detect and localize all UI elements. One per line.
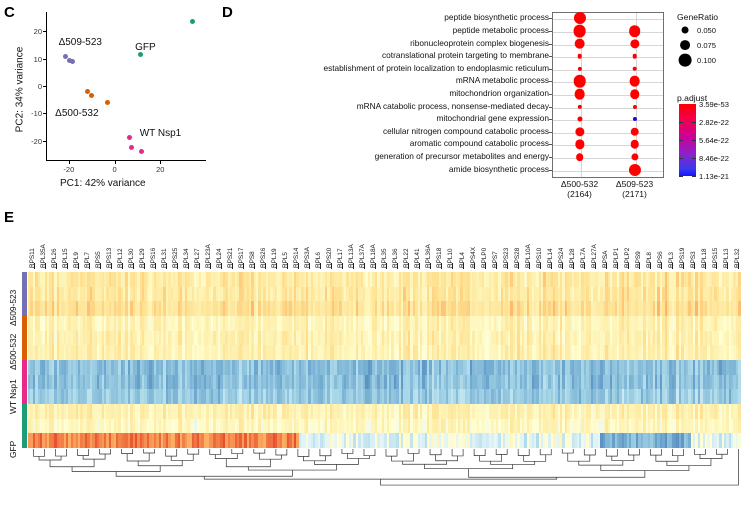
- dendrogram-link: [656, 455, 678, 461]
- dotplot-row-gridline: [553, 70, 663, 71]
- dendrogram-link: [386, 449, 397, 456]
- heatmap-gene-label: RPL32: [734, 248, 741, 268]
- heatmap-gene-label: RPL27: [194, 248, 201, 268]
- heatmap-gene-label: RPL18: [701, 248, 708, 268]
- heatmap-cell: [738, 287, 740, 302]
- heatmap-gene-label: RPL27A: [591, 244, 598, 268]
- heatmap-gene-label: RPL41: [414, 248, 421, 268]
- go-term-label: aromatic compound catabolic process: [410, 139, 549, 147]
- heatmap-gene-tick: [111, 263, 112, 269]
- pca-y-tick-label: -10: [22, 109, 42, 118]
- dendrogram-link: [562, 449, 573, 453]
- heatmap-gene-tick: [309, 263, 310, 269]
- heatmap-cell: [738, 419, 740, 434]
- dendrogram-link: [226, 459, 270, 467]
- heatmap-cell: [738, 316, 740, 331]
- heatmap-gene-tick: [177, 263, 178, 269]
- heatmap-gene-tick: [650, 263, 651, 269]
- dotplot-dot: [629, 76, 640, 87]
- heatmap-gene-label: RPL23A: [205, 244, 212, 268]
- heatmap-gene-label: RPLP1: [613, 248, 620, 268]
- pca-y-tick: [43, 31, 46, 32]
- heatmap-gene-label: RPL17: [337, 248, 344, 268]
- heatmap-gene-label: RPS9: [635, 251, 642, 268]
- pca-y-tick: [43, 113, 46, 114]
- go-term-label: cotranslational protein targeting to mem…: [382, 51, 549, 59]
- legend-padjust-tick: [679, 140, 683, 141]
- heatmap-gene-tick: [320, 263, 321, 269]
- heatmap-cell: [738, 360, 740, 375]
- heatmap-gene-label: RPL4: [459, 252, 466, 268]
- dendrogram-link: [116, 470, 292, 476]
- pca-y-tick: [43, 59, 46, 60]
- dendrogram-svg: [28, 449, 744, 493]
- pca-group-label: Δ500-532: [55, 108, 98, 119]
- heatmap-gene-tick: [496, 263, 497, 269]
- heatmap-gene-label: RPLP2: [624, 248, 631, 268]
- heatmap-gene-tick: [540, 263, 541, 269]
- heatmap-gene-label: RPS7: [492, 251, 499, 268]
- pca-y-axis: [46, 12, 47, 161]
- pca-group-label: WT Nsp1: [140, 128, 182, 139]
- legend-padjust-value: 3.59e-53: [699, 100, 729, 109]
- heatmap-gene-tick: [430, 263, 431, 269]
- dotplot-dot: [574, 38, 585, 49]
- dotplot-grid: [552, 12, 664, 178]
- heatmap-gene-label: RPL30: [128, 248, 135, 268]
- pca-y-tick-label: 20: [22, 27, 42, 36]
- dotplot-row-gridline: [553, 32, 663, 33]
- heatmap-gene-label: RPS14: [293, 248, 300, 268]
- legend-padjust-tick: [679, 158, 683, 159]
- panel-d-dotplot: D peptide biosynthetic processpeptide me…: [222, 0, 744, 205]
- dendrogram-link: [452, 449, 463, 456]
- heatmap-gene-label: RPSA: [602, 251, 609, 268]
- heatmap-gene-tick: [716, 263, 717, 269]
- go-term-label: peptide metabolic process: [453, 26, 549, 34]
- heatmap-gene-tick: [738, 263, 739, 269]
- heatmap-gene-tick: [452, 263, 453, 269]
- heatmap-gene-label: RPL10A: [525, 244, 532, 268]
- dendrogram-link: [601, 465, 689, 470]
- heatmap-row: [28, 272, 744, 287]
- heatmap-gene-tick: [56, 263, 57, 269]
- pca-x-axis: [46, 160, 206, 161]
- dendrogram-link: [56, 449, 67, 456]
- heatmap-cell: [738, 375, 740, 390]
- heatmap-group-bar: [22, 272, 27, 316]
- heatmap-gene-label: RPL31: [161, 248, 168, 268]
- dendrogram-link: [144, 449, 155, 453]
- go-term-label: establishment of protein localization to…: [323, 64, 549, 72]
- heatmap-gene-tick: [463, 263, 464, 269]
- dendrogram-link: [628, 449, 639, 455]
- dendrogram-link: [210, 449, 221, 454]
- pca-group-label: Δ509-523: [59, 37, 102, 48]
- panel-e-heatmap: E RPS11RPL35ARPL26RPL15RPL9RPL7RPS5RPS13…: [0, 205, 744, 506]
- heatmap-gene-label: RPL29: [139, 248, 146, 268]
- pca-x-tick-label: -20: [61, 165, 77, 174]
- heatmap-gene-tick: [628, 263, 629, 269]
- pca-x-tick: [115, 161, 116, 164]
- heatmap-gene-label: RPS28: [514, 248, 521, 268]
- pca-x-tick: [160, 161, 161, 164]
- panel-e-letter: E: [4, 209, 14, 226]
- heatmap-gene-tick: [518, 263, 519, 269]
- heatmap-gene-tick: [122, 263, 123, 269]
- dendrogram-link: [491, 461, 535, 464]
- go-term-label: mitochondrion organization: [449, 89, 549, 97]
- dendrogram-link: [248, 464, 336, 470]
- heatmap-gene-label: RPS18: [436, 248, 443, 268]
- heatmap-gene-tick: [353, 263, 354, 269]
- dotplot-row-gridline: [553, 133, 663, 134]
- heatmap-gene-tick: [617, 263, 618, 269]
- heatmap-gene-tick: [78, 263, 79, 269]
- heatmap-gene-label: RPS19: [679, 248, 686, 268]
- heatmap-gene-label: RPS11: [29, 248, 36, 268]
- heatmap-gene-label: RPS3A: [304, 247, 311, 268]
- heatmap-gene-tick: [199, 263, 200, 269]
- heatmap-cell: [738, 345, 740, 360]
- dotplot-dot: [573, 25, 586, 38]
- go-term-label: generation of precursor metabolites and …: [375, 152, 549, 160]
- heatmap-row: [28, 316, 744, 331]
- heatmap-gene-tick: [397, 263, 398, 269]
- heatmap-gene-tick: [441, 263, 442, 269]
- legend-padjust-value: 8.46e-22: [699, 154, 729, 163]
- heatmap-gene-label: RPS15: [712, 248, 719, 268]
- heatmap-gene-tick: [562, 263, 563, 269]
- heatmap-gene-tick: [166, 263, 167, 269]
- heatmap-row: [28, 345, 744, 360]
- heatmap-gene-label: RPS13: [106, 248, 113, 268]
- heatmap-gene-tick: [342, 263, 343, 269]
- legend-generatio-dot: [682, 27, 689, 34]
- heatmap-gene-label: RPS25: [172, 248, 179, 268]
- heatmap-row: [28, 331, 744, 346]
- dotplot-row-gridline: [553, 57, 663, 58]
- panel-d-letter: D: [222, 4, 233, 21]
- dendrogram-link: [232, 449, 243, 454]
- go-term-label: amide biosynthetic process: [449, 165, 549, 173]
- dendrogram-link: [606, 449, 617, 456]
- heatmap-gene-label: RPS20: [326, 248, 333, 268]
- dotplot-dot: [630, 128, 639, 137]
- dendrogram-link: [78, 449, 89, 456]
- dotplot-dot: [574, 89, 585, 100]
- dendrogram-link: [204, 476, 556, 479]
- heatmap-gene-tick: [727, 263, 728, 269]
- heatmap-gene-label: RPS23: [503, 248, 510, 268]
- dotplot-dot: [576, 153, 584, 161]
- heatmap-gene-tick: [584, 263, 585, 269]
- pca-point: [138, 52, 143, 57]
- dendrogram-link: [496, 449, 507, 454]
- dendrogram-link: [540, 449, 551, 455]
- heatmap-gene-tick: [672, 263, 673, 269]
- dendrogram-link: [320, 449, 331, 456]
- heatmap-group-label: WT Nsp1: [8, 379, 18, 414]
- dendrogram-link: [667, 459, 711, 466]
- heatmap-gene-label: RPL7A: [580, 248, 587, 268]
- dendrogram-link: [364, 449, 375, 456]
- dendrogram-link: [474, 449, 485, 456]
- heatmap-gene-label: RPL12: [117, 248, 124, 268]
- dendrogram-link: [34, 449, 45, 456]
- heatmap-gene-label: RPL37A: [359, 244, 366, 268]
- dotplot-row-gridline: [553, 82, 663, 83]
- heatmap-cell: [738, 301, 740, 316]
- dendrogram-link: [518, 449, 529, 456]
- legend-padjust-tick: [692, 176, 696, 177]
- heatmap-gene-label: RPL7: [84, 252, 91, 268]
- heatmap-gene-label: RPS10: [536, 248, 543, 268]
- legend-generatio-title: GeneRatio: [677, 12, 718, 22]
- heatmap-gene-label: RPL36: [392, 248, 399, 268]
- pca-x-tick-label: 0: [107, 165, 123, 174]
- pca-xlabel: PC1: 42% variance: [60, 178, 146, 189]
- heatmap-row: [28, 301, 744, 316]
- dotplot-dot: [577, 54, 582, 59]
- heatmap-gene-tick: [606, 263, 607, 269]
- pca-x-tick: [69, 161, 70, 164]
- heatmap-row: [28, 419, 744, 434]
- dendrogram-link: [342, 449, 353, 453]
- heatmap-gene-tick: [67, 263, 68, 269]
- heatmap-gene-label: RPL13A: [348, 244, 355, 268]
- dendrogram-link: [584, 449, 595, 455]
- heatmap-gene-tick: [254, 263, 255, 269]
- heatmap-cell: [738, 404, 740, 419]
- heatmap-gene-label: RPS17: [238, 248, 245, 268]
- legend-generatio-value: 0.050: [697, 26, 716, 35]
- dendrogram-link: [122, 449, 133, 454]
- dotplot-dot: [632, 66, 637, 71]
- heatmap-gene-label: RPS4X: [470, 247, 477, 268]
- dotplot-row-gridline: [553, 158, 663, 159]
- pca-y-tick-label: 0: [22, 82, 42, 91]
- heatmap-gene-label: RPS21: [227, 248, 234, 268]
- heatmap-gene-tick: [485, 263, 486, 269]
- heatmap-gene-tick: [694, 263, 695, 269]
- go-term-label: mRNA metabolic process: [456, 76, 549, 84]
- heatmap-gene-label: RPL19: [271, 248, 278, 268]
- dendrogram-link: [314, 459, 358, 465]
- heatmap-gene-tick: [474, 263, 475, 269]
- dotplot-x-label: Δ509-523: [601, 179, 669, 189]
- heatmap-gene-label: RPL13: [723, 248, 730, 268]
- heatmap-group-label: GFP: [8, 441, 18, 458]
- dotplot-row-gridline: [553, 45, 663, 46]
- dotplot-dot: [573, 75, 586, 88]
- heatmap-grid: [28, 272, 744, 448]
- heatmap-gene-tick: [375, 263, 376, 269]
- heatmap-gene-tick: [419, 263, 420, 269]
- heatmap-gene-tick: [595, 263, 596, 269]
- dotplot-row-gridline: [553, 108, 663, 109]
- heatmap-gene-label: RPL35: [381, 248, 388, 268]
- heatmap-gene-label: RPL28: [569, 248, 576, 268]
- dendrogram-link: [298, 449, 309, 456]
- heatmap-group-bar: [22, 404, 27, 448]
- dendrogram-link: [171, 454, 193, 460]
- heatmap-gene-label: RPL26: [51, 248, 58, 268]
- heatmap-gene-label: RPL22: [403, 248, 410, 268]
- heatmap-gene-label: RPL5: [282, 252, 289, 268]
- heatmap-group-label: Δ500-532: [8, 334, 18, 370]
- heatmap-cell: [738, 433, 740, 448]
- heatmap-cell: [738, 389, 740, 404]
- dendrogram-link: [568, 453, 590, 461]
- dendrogram-link: [259, 453, 281, 459]
- legend-padjust-value: 5.64e-22: [699, 136, 729, 145]
- dotplot-dot: [630, 140, 639, 149]
- pca-y-tick: [43, 141, 46, 142]
- dendrogram-link: [254, 449, 265, 453]
- heatmap-gene-label: RPL14: [547, 248, 554, 268]
- dendrogram-link: [425, 464, 513, 468]
- heatmap-gene-tick: [144, 263, 145, 269]
- dendrogram-link: [392, 453, 414, 461]
- pca-point: [190, 19, 195, 24]
- legend-padjust-value: 2.82e-22: [699, 118, 729, 127]
- dotplot-x-count: (2171): [601, 189, 669, 199]
- legend-padjust-tick: [679, 122, 683, 123]
- go-term-label: peptide biosynthetic process: [444, 13, 549, 21]
- legend-generatio-dot: [680, 40, 690, 50]
- dendrogram-link: [672, 449, 683, 456]
- heatmap-gene-label: RPLP0: [481, 248, 488, 268]
- heatmap-gene-tick: [683, 263, 684, 269]
- heatmap-gene-label: RPL8: [646, 252, 653, 268]
- heatmap-gene-label: RPS5: [95, 251, 102, 268]
- go-term-label: cellular nitrogen compound catabolic pro…: [383, 127, 549, 135]
- heatmap-gene-label: RPL18A: [370, 244, 377, 268]
- dotplot-row-gridline: [553, 145, 663, 146]
- heatmap-row: [28, 389, 744, 404]
- heatmap-gene-tick: [155, 263, 156, 269]
- go-term-label: ribonucleoprotein complex biogenesis: [410, 39, 549, 47]
- panel-c-letter: C: [4, 4, 15, 21]
- heatmap-gene-tick: [100, 263, 101, 269]
- heatmap-gene-tick: [364, 263, 365, 269]
- dendrogram-link: [127, 453, 149, 461]
- heatmap-gene-tick: [573, 263, 574, 269]
- heatmap-gene-tick: [210, 263, 211, 269]
- pca-y-tick-label: 10: [22, 55, 42, 64]
- heatmap-gene-label: RPS3: [690, 251, 697, 268]
- pca-point: [127, 135, 132, 140]
- legend-generatio-dot: [679, 54, 692, 67]
- dendrogram-link: [188, 449, 199, 454]
- heatmap-gene-tick: [507, 263, 508, 269]
- heatmap-row: [28, 404, 744, 419]
- heatmap-gene-tick: [188, 263, 189, 269]
- panel-c-pca: C PC2: 34% variance PC1: 42% variance -2…: [0, 0, 222, 200]
- dendrogram-link: [700, 454, 722, 458]
- dotplot-row-gridline: [553, 19, 663, 20]
- heatmap-row: [28, 433, 744, 448]
- heatmap-gene-label: RPL15: [62, 248, 69, 268]
- pca-y-tick-label: -20: [22, 137, 42, 146]
- pca-y-tick: [43, 86, 46, 87]
- dotplot-row-gridline: [553, 95, 663, 96]
- heatmap-gene-label: RPL9: [73, 252, 80, 268]
- heatmap-gene-tick: [331, 263, 332, 269]
- dotplot-dot: [630, 89, 640, 99]
- heatmap-gene-tick: [529, 263, 530, 269]
- dendrogram-link: [166, 449, 177, 456]
- dendrogram-link: [650, 449, 661, 455]
- heatmap-gene-tick: [661, 263, 662, 269]
- heatmap-gene-tick: [386, 263, 387, 269]
- heatmap-gene-label: RPL3: [668, 252, 675, 268]
- dotplot-dot: [629, 25, 641, 37]
- heatmap-gene-label: RPS24: [558, 248, 565, 268]
- pca-x-tick-label: 20: [152, 165, 168, 174]
- legend-generatio-value: 0.075: [697, 41, 716, 50]
- dendrogram-link: [100, 449, 111, 454]
- dotplot-row-gridline: [553, 120, 663, 121]
- heatmap-gene-label: RPL36A: [425, 244, 432, 268]
- heatmap-gene-label: RPL34: [183, 248, 190, 268]
- heatmap-gene-label: RPS8: [249, 251, 256, 268]
- dendrogram-link: [83, 454, 105, 459]
- heatmap-gene-tick: [265, 263, 266, 269]
- legend-padjust-tick: [692, 122, 696, 123]
- dendrogram-link: [469, 469, 645, 478]
- heatmap-gene-tick: [639, 263, 640, 269]
- heatmap-cell: [738, 272, 740, 287]
- heatmap-gene-label: RPS26: [260, 248, 267, 268]
- heatmap-gene-tick: [243, 263, 244, 269]
- go-term-label: mitochondrial gene expression: [436, 114, 549, 122]
- pca-point: [105, 100, 110, 105]
- heatmap-cell: [738, 331, 740, 346]
- heatmap-gene-label: RPL24: [216, 248, 223, 268]
- legend-padjust-tick: [692, 140, 696, 141]
- heatmap-gene-tick: [408, 263, 409, 269]
- dendrogram-link: [716, 449, 727, 454]
- heatmap-gene-tick: [34, 263, 35, 269]
- heatmap-gene-tick: [276, 263, 277, 269]
- heatmap-gene-tick: [705, 263, 706, 269]
- legend-generatio-value: 0.100: [697, 56, 716, 65]
- pca-point: [139, 149, 144, 154]
- pca-point: [89, 93, 94, 98]
- pca-plot-area: -20020-20-1001020Δ509-523Δ500-532GFPWT N…: [46, 12, 206, 160]
- pca-group-label: GFP: [135, 42, 156, 53]
- heatmap-gene-tick: [298, 263, 299, 269]
- heatmap-row: [28, 360, 744, 375]
- dotplot-dot: [632, 54, 637, 59]
- heatmap-gene-label: RPL35A: [40, 244, 47, 268]
- heatmap-gene-tick: [551, 263, 552, 269]
- legend-padjust-tick: [692, 158, 696, 159]
- legend-padjust-value: 1.13e-21: [699, 172, 729, 181]
- go-term-label: mRNA catabolic process, nonsense-mediate…: [357, 102, 549, 110]
- heatmap-group-label: Δ509-523: [8, 290, 18, 326]
- dendrogram-link: [276, 449, 287, 455]
- heatmap-row: [28, 287, 744, 302]
- heatmap-group-bar: [22, 360, 27, 404]
- heatmap-gene-label: RPL6: [315, 252, 322, 268]
- dotplot-row-gridline: [553, 171, 663, 172]
- heatmap-gene-label: RPS6: [657, 251, 664, 268]
- heatmap-row: [28, 375, 744, 390]
- legend-padjust-tick: [679, 176, 683, 177]
